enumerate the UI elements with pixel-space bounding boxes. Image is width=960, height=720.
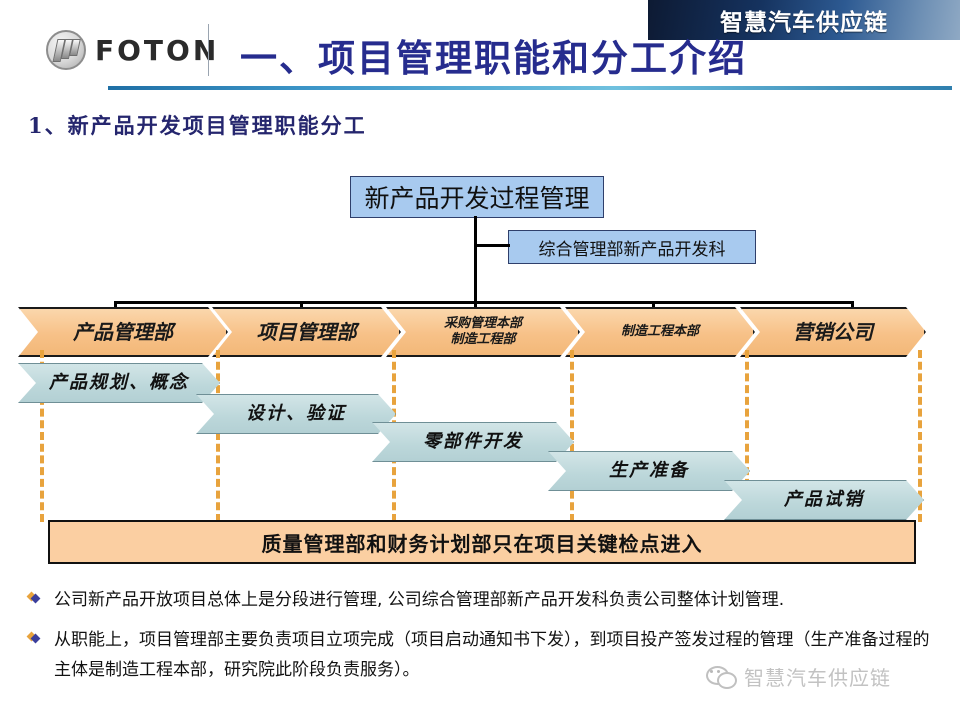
- header-rule: [108, 86, 952, 90]
- watermark-text: 智慧汽车供应链: [744, 662, 891, 691]
- brand-logo: FOTON: [46, 30, 219, 70]
- phase-chevron-3-label: 零部件开发: [423, 433, 523, 452]
- dept-chevron-1[interactable]: 产品管理部: [18, 307, 228, 357]
- dept-chevron-4-label: 制造工程本部: [621, 324, 699, 340]
- dept-chevron-3-label-line2: 制造工程部: [444, 332, 522, 348]
- dept-chevron-4[interactable]: 制造工程本部: [565, 307, 755, 357]
- dept-chevron-1-label: 产品管理部: [73, 322, 173, 343]
- connector-horizontal-bus: [114, 301, 854, 304]
- phase-chevron-4[interactable]: 生产准备: [548, 451, 750, 491]
- slide: 智慧汽车供应链 FOTON 一、项目管理职能和分工介绍 1、新产品开发项目管理职…: [0, 0, 960, 720]
- diagram-top-box: 新产品开发过程管理: [350, 176, 604, 218]
- header-divider: [208, 24, 209, 76]
- section-subtitle: 1、新产品开发项目管理职能分工: [28, 110, 367, 140]
- dept-chevron-2[interactable]: 项目管理部: [212, 307, 401, 357]
- connector-to-sub-box: [474, 244, 510, 247]
- diagram-sub-box: 综合管理部新产品开发科: [508, 230, 756, 264]
- phase-chevron-2-label: 设计、验证: [246, 405, 346, 424]
- phase-chevron-1[interactable]: 产品规划、概念: [18, 363, 220, 403]
- phase-divider-2: [216, 350, 220, 522]
- phase-chevron-5-label: 产品试销: [784, 491, 864, 510]
- diagram-note-banner: 质量管理部和财务计划部只在项目关键检点进入: [48, 520, 916, 564]
- page-title: 一、项目管理职能和分工介绍: [240, 28, 747, 82]
- note-text-1: 公司新产品开放项目总体上是分段进行管理, 公司综合管理部新产品开发科负责公司整体…: [54, 586, 784, 616]
- bullet-diamond-icon: [28, 591, 40, 603]
- dept-chevron-3-label-line1: 采购管理本部: [444, 316, 522, 332]
- foton-diamond-logo-icon: [46, 30, 86, 70]
- dept-chevron-5[interactable]: 营销公司: [740, 307, 926, 357]
- wechat-icon: [706, 665, 736, 689]
- connector-vertical-main: [474, 216, 477, 303]
- phase-chevron-3[interactable]: 零部件开发: [372, 422, 574, 462]
- note-item: 公司新产品开放项目总体上是分段进行管理, 公司综合管理部新产品开发科负责公司整体…: [24, 586, 936, 616]
- dept-chevron-5-label: 营销公司: [793, 322, 873, 343]
- phase-chevron-1-label: 产品规划、概念: [49, 374, 189, 393]
- phase-chevron-5[interactable]: 产品试销: [724, 480, 924, 520]
- phase-chevron-2[interactable]: 设计、验证: [196, 394, 396, 434]
- bullet-diamond-icon: [28, 631, 40, 643]
- dept-chevron-3[interactable]: 采购管理本部 制造工程部: [386, 307, 580, 357]
- brand-name: FOTON: [95, 34, 219, 67]
- dept-chevron-2-label: 项目管理部: [257, 322, 357, 343]
- phase-chevron-4-label: 生产准备: [609, 462, 689, 481]
- phase-divider-4: [570, 350, 574, 522]
- process-diagram: 新产品开发过程管理 综合管理部新产品开发科 产品管理部 项目管理部 采购管理本部…: [0, 160, 960, 560]
- watermark: 智慧汽车供应链: [706, 662, 891, 691]
